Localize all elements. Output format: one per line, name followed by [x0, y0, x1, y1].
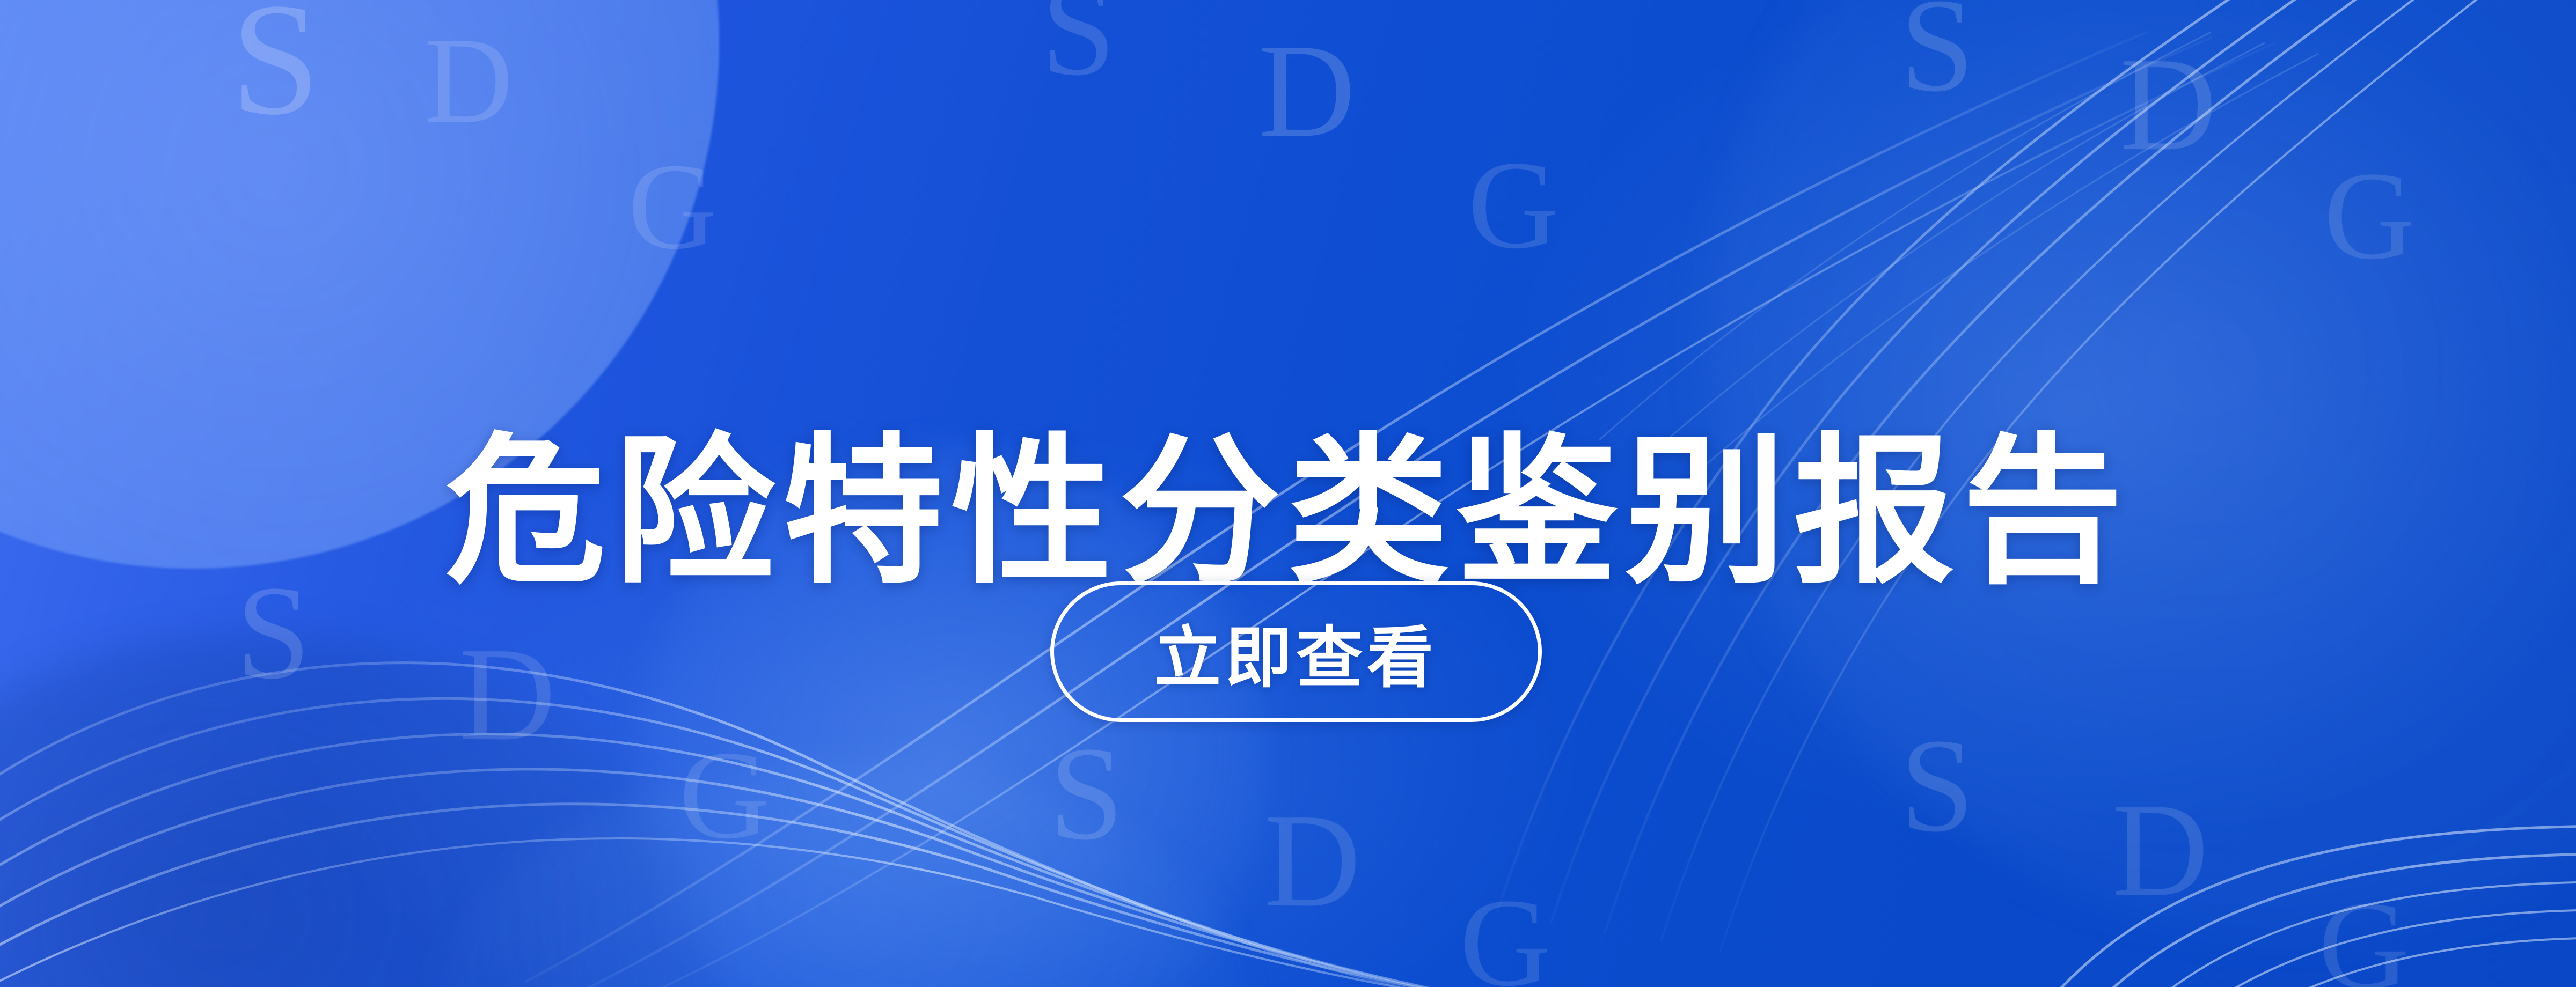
promo-banner: SDGSDGSDGSDGSDGSDG 危险特性分类鉴别报告 立即查看	[0, 0, 2576, 987]
view-now-button[interactable]: 立即查看	[1050, 581, 1542, 722]
page-title: 危险特性分类鉴别报告	[0, 381, 2576, 614]
banner-content: 危险特性分类鉴别报告 立即查看	[0, 0, 2576, 987]
view-now-button-label: 立即查看	[1154, 603, 1438, 700]
